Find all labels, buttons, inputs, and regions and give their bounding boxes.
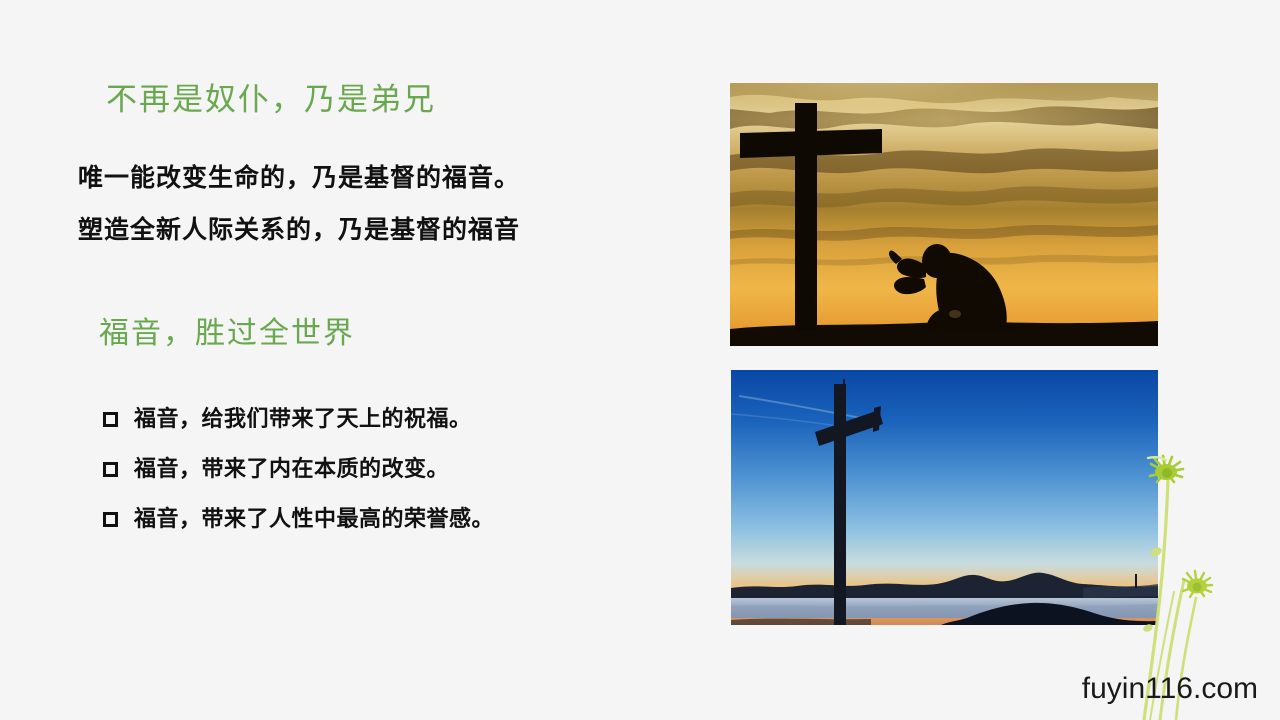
list-item: 福音，给我们带来了天上的祝福。 (103, 406, 663, 434)
hollow-square-icon (103, 412, 118, 427)
section-subheading: 福音，胜过全世界 (99, 308, 355, 352)
watermark-url: fuyin116.com (1082, 672, 1258, 706)
body-line-2: 塑造全新人际关系的，乃是基督的福音 (78, 210, 520, 246)
page-title: 不再是奴仆，乃是弟兄 (106, 74, 436, 119)
image-sunset-cross-praying (730, 83, 1158, 346)
slide-canvas: 不再是奴仆，乃是弟兄 唯一能改变生命的，乃是基督的福音。 塑造全新人际关系的，乃… (0, 0, 1280, 720)
list-item-label: 福音，给我们带来了天上的祝福。 (134, 406, 472, 432)
list-item-label: 福音，带来了人性中最高的荣誉感。 (134, 506, 494, 532)
list-item-label: 福音，带来了内在本质的改变。 (134, 456, 449, 482)
body-line-1: 唯一能改变生命的，乃是基督的福音。 (78, 158, 520, 194)
list-item: 福音，带来了内在本质的改变。 (103, 456, 663, 484)
list-item: 福音，带来了人性中最高的荣誉感。 (103, 506, 663, 534)
image-blue-sky-cross-ridge (731, 370, 1158, 625)
hollow-square-icon (103, 462, 118, 477)
hollow-square-icon (103, 512, 118, 527)
bullet-list: 福音，给我们带来了天上的祝福。 福音，带来了内在本质的改变。 福音，带来了人性中… (103, 406, 663, 556)
